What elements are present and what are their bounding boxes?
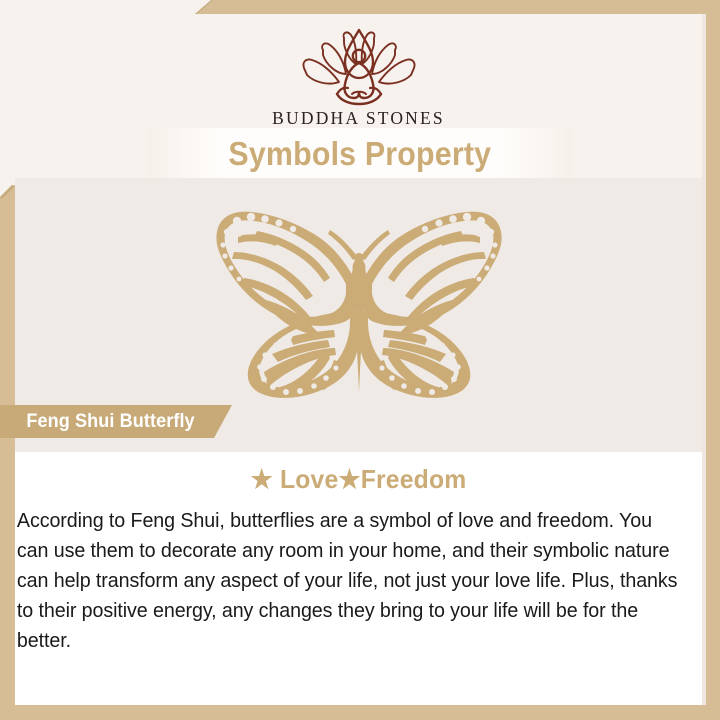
left-border-strip (0, 185, 15, 705)
title-plate: Symbols Property (148, 128, 572, 180)
right-border-inner-line (702, 14, 706, 720)
page-title: Symbols Property (229, 135, 492, 173)
feature-tag-label: Feng Shui Butterfly (26, 411, 194, 433)
description-subheading: ★ Love★Freedom (32, 452, 685, 495)
brand-name: BUDDHA STONES (272, 108, 445, 129)
top-border-band (195, 0, 720, 14)
lotus-meditation-icon (284, 28, 434, 106)
description-panel: ★ Love★Freedom According to Feng Shui, b… (15, 452, 702, 705)
bottom-border-band (0, 705, 720, 720)
infographic-page: BUDDHA STONES Symbols Property (0, 0, 720, 720)
feature-tag-banner: Feng Shui Butterfly (0, 405, 232, 438)
brand-logo: BUDDHA STONES (15, 28, 702, 129)
illustration-wrapper (15, 190, 702, 406)
description-paragraph: According to Feng Shui, butterflies are … (15, 495, 685, 656)
butterfly-icon (194, 190, 524, 406)
right-border-strip (706, 14, 720, 720)
